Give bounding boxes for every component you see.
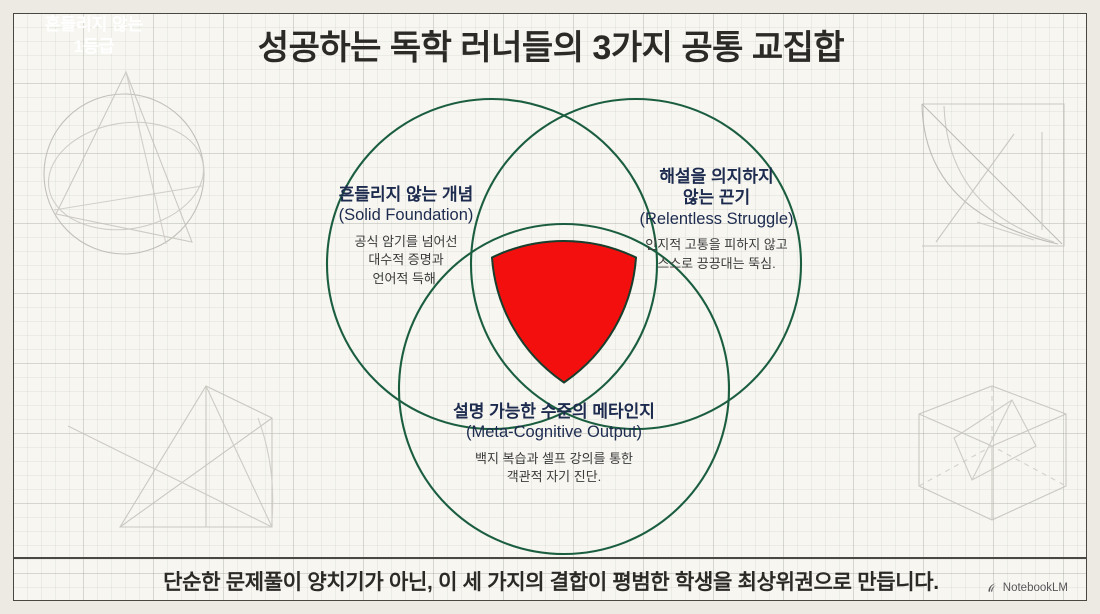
venn-label-right-body: 인지적 고통을 피하지 않고스스로 끙끙대는 뚝심. xyxy=(614,236,819,273)
notebooklm-label: NotebookLM xyxy=(1003,582,1068,594)
caption-text: 단순한 문제풀이 양치기가 아닌, 이 세 가지의 결합이 평범한 학생을 최상… xyxy=(14,566,1087,596)
notebooklm-watermark: NotebookLM xyxy=(986,581,1068,594)
infographic-page: 성공하는 독학 러너들의 3가지 공통 교집합 흔들리지 않는 개념 (Soli… xyxy=(0,0,1100,614)
venn-label-left: 흔들리지 않는 개념 (Solid Foundation) 공식 암기를 넘어선… xyxy=(306,184,506,288)
venn-diagram xyxy=(14,14,1087,601)
venn-label-bottom-body: 백지 복습과 셀프 강의를 통한객관적 자기 진단. xyxy=(404,450,704,487)
notebooklm-spark-icon xyxy=(986,581,999,594)
venn-label-left-heading-en: (Solid Foundation) xyxy=(306,205,506,226)
venn-label-right-heading-en: (Relentless Struggle) xyxy=(614,209,819,230)
venn-label-right: 해설을 의지하지않는 끈기 (Relentless Struggle) 인지적 … xyxy=(614,166,819,273)
grid-paper-sheet: 성공하는 독학 러너들의 3가지 공통 교집합 흔들리지 않는 개념 (Soli… xyxy=(13,13,1087,601)
venn-label-bottom-heading: 설명 가능한 수준의 메타인지 xyxy=(404,401,704,422)
venn-label-left-body: 공식 암기를 넘어선대수적 증명과언어적 득해. xyxy=(306,233,506,288)
venn-label-bottom-heading-en: (Meta-Cognitive Output) xyxy=(404,422,704,443)
venn-label-left-heading: 흔들리지 않는 개념 xyxy=(306,184,506,205)
venn-label-bottom: 설명 가능한 수준의 메타인지 (Meta-Cognitive Output) … xyxy=(404,401,704,487)
venn-label-right-heading: 해설을 의지하지않는 끈기 xyxy=(614,166,819,209)
caption-divider xyxy=(14,557,1087,559)
